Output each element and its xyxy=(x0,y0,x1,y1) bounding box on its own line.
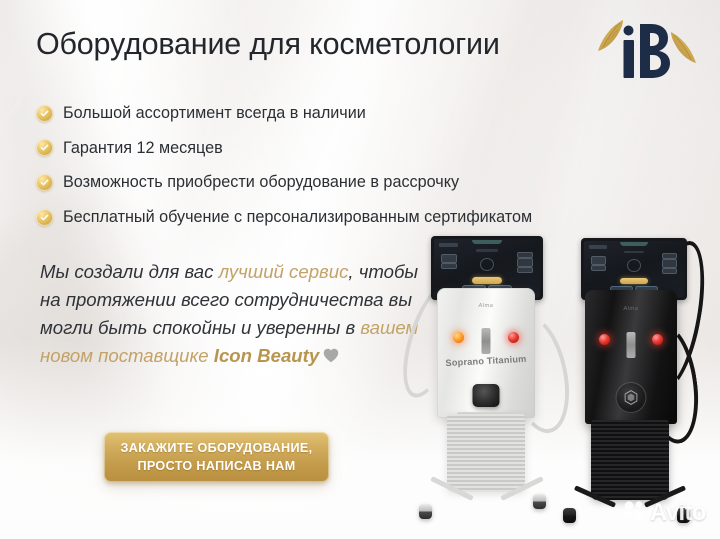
avito-wordmark: Avito xyxy=(650,501,706,525)
avito-watermark: Avito xyxy=(624,500,706,525)
caster-wheel xyxy=(563,508,576,523)
applicator-connector xyxy=(627,332,636,358)
feature-text: Возможность приобрести оборудование в ра… xyxy=(63,173,459,192)
feature-text: Гарантия 12 месяцев xyxy=(63,139,223,158)
check-badge-icon xyxy=(36,105,53,122)
list-item: Большой ассортимент всегда в наличии xyxy=(36,104,532,123)
feature-text: Большой ассортимент всегда в наличии xyxy=(63,104,366,123)
machine-seal-badge xyxy=(616,382,647,413)
machine-model-label: Soprano Titanium xyxy=(445,354,527,368)
applicator-port xyxy=(473,384,500,407)
equipment-photo: Alma Soprano Titanium xyxy=(405,228,720,539)
red-lamp-icon xyxy=(599,334,610,345)
caster-wheel xyxy=(419,504,432,519)
red-lamp-icon xyxy=(508,332,519,343)
amber-lamp-icon xyxy=(453,332,464,343)
list-item: Гарантия 12 месяцев xyxy=(36,139,532,158)
laurel-right-icon xyxy=(670,30,698,70)
caster-wheel xyxy=(533,494,546,509)
list-item: Возможность приобрести оборудование в ра… xyxy=(36,173,532,192)
icon-beauty-logo xyxy=(596,12,696,88)
list-item: Бесплатный обучение с персонализированны… xyxy=(36,208,532,227)
check-badge-icon xyxy=(36,174,53,191)
black-machine-base xyxy=(591,420,669,500)
check-badge-icon xyxy=(36,139,53,156)
promo-poster: Оборудование для косметологии xyxy=(0,0,720,539)
machine-brand-label: Alma xyxy=(479,303,494,309)
cta-line-2: ПРОСТО НАПИСАВ НАМ xyxy=(137,458,295,474)
logo-letters xyxy=(618,22,674,80)
grey-heart-icon xyxy=(323,343,339,358)
white-machine-body: Alma Soprano Titanium xyxy=(437,288,535,418)
pitch-paragraph: Мы создали для вас лучший сервис, чтобы … xyxy=(40,258,420,370)
page-title: Оборудование для косметологии xyxy=(36,28,500,62)
pitch-highlight-service: лучший сервис xyxy=(219,261,349,282)
feature-list: Большой ассортимент всегда в наличии Гар… xyxy=(36,104,532,227)
applicator-connector xyxy=(482,328,491,354)
avito-dots-icon xyxy=(624,500,646,525)
white-machine-base xyxy=(447,414,525,492)
feature-text: Бесплатный обучение с персонализированны… xyxy=(63,208,532,227)
black-machine-body: Alma xyxy=(585,290,677,424)
check-badge-icon xyxy=(36,209,53,226)
cta-line-1: ЗАКАЖИТЕ ОБОРУДОВАНИЕ, xyxy=(121,440,313,456)
red-lamp-icon xyxy=(652,334,663,345)
pitch-part-1: Мы создали для вас xyxy=(40,261,219,282)
brand-name: Icon Beauty xyxy=(214,345,319,366)
machine-brand-label: Alma xyxy=(624,306,639,312)
order-equipment-button[interactable]: ЗАКАЖИТЕ ОБОРУДОВАНИЕ, ПРОСТО НАПИСАВ НА… xyxy=(104,432,329,482)
